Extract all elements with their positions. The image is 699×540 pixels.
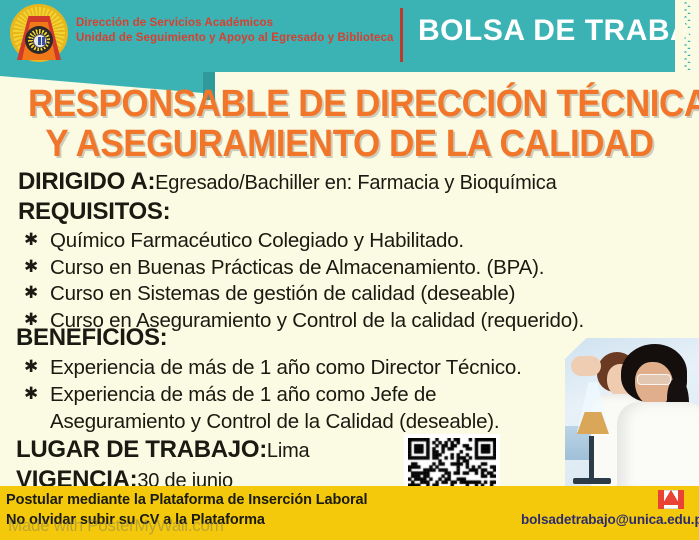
list-item-label: Químico Farmacéutico Colegiado y Habilit…	[50, 229, 464, 252]
department-line-2: Unidad de Seguimiento y Apoyo al Egresad…	[76, 31, 396, 46]
beneficios-label: BENEFICIOS:	[16, 324, 167, 351]
photo-stand	[589, 436, 594, 480]
zigzag-edge-decoration	[675, 0, 699, 72]
list-item-continuation: Aseguramiento y Control de la Calidad (d…	[50, 408, 642, 435]
asterisk-bullet-icon: ✱	[24, 254, 38, 281]
gmail-icon	[658, 490, 684, 509]
requisitos-heading: REQUISITOS:	[18, 198, 170, 226]
department-line-1: Dirección de Servicios Académicos	[76, 16, 396, 31]
photo-hand	[571, 356, 601, 376]
asterisk-bullet-icon: ✱	[24, 380, 38, 407]
dirigido-value: Egresado/Bachiller en: Farmacia y Bioquí…	[155, 172, 556, 194]
list-item: ✱Experiencia de más de 1 año como Direct…	[22, 354, 642, 381]
logo-core	[33, 34, 47, 48]
poster-header: Dirección de Servicios Académicos Unidad…	[0, 0, 699, 72]
photo-person-front	[621, 344, 699, 486]
lugar-row: LUGAR DE TRABAJO:Lima	[16, 436, 309, 464]
list-item-label: Experiencia de más de 1 año como Directo…	[50, 356, 522, 379]
header-divider	[400, 8, 403, 62]
asterisk-bullet-icon: ✱	[24, 280, 38, 307]
banner-title: BOLSA DE TRABAJO	[418, 14, 699, 48]
photo-flask-icon	[577, 374, 611, 436]
list-item-label: Curso en Sistemas de gestión de calidad …	[50, 282, 515, 305]
job-title-line-1: RESPONSABLE DE DIRECCIÓN TÉCNICA	[28, 84, 671, 124]
asterisk-bullet-icon: ✱	[24, 353, 38, 380]
job-title: RESPONSABLE DE DIRECCIÓN TÉCNICA Y ASEGU…	[28, 84, 671, 164]
watermark: Made with PosterMyWall.com	[8, 516, 223, 536]
beneficios-heading: BENEFICIOS:	[16, 324, 167, 352]
department-text: Dirección de Servicios Académicos Unidad…	[76, 16, 396, 46]
list-item-label: Experiencia de más de 1 año como Jefe de	[50, 383, 436, 406]
university-seal-logo	[8, 4, 70, 66]
requisitos-list: ✱Químico Farmacéutico Colegiado y Habili…	[22, 228, 682, 334]
beneficios-list: ✱Experiencia de más de 1 año como Direct…	[22, 354, 642, 435]
lugar-label: LUGAR DE TRABAJO:	[16, 436, 267, 463]
list-item: ✱Curso en Sistemas de gestión de calidad…	[22, 281, 682, 308]
lugar-value: Lima	[267, 440, 310, 462]
list-item: ✱Experiencia de más de 1 año como Jefe d…	[22, 381, 642, 435]
photo-stand-base	[573, 478, 611, 484]
photo-lab-coat	[617, 402, 699, 486]
list-item: ✱Químico Farmacéutico Colegiado y Habili…	[22, 228, 682, 255]
photo-safety-glasses-icon	[637, 374, 671, 385]
dirigido-row: DIRIGIDO A:Egresado/Bachiller en: Farmac…	[18, 168, 557, 196]
contact-email[interactable]: bolsadetrabajo@unica.edu.pe	[521, 512, 699, 527]
list-item: ✱Curso en Buenas Prácticas de Almacenami…	[22, 255, 682, 282]
requisitos-label: REQUISITOS:	[18, 198, 170, 225]
dirigido-label: DIRIGIDO A:	[18, 168, 155, 195]
gmail-v-shape	[662, 490, 680, 505]
list-item-label: Curso en Buenas Prácticas de Almacenamie…	[50, 256, 544, 279]
laboratory-photo	[565, 338, 699, 486]
job-posting-poster: Dirección de Servicios Académicos Unidad…	[0, 0, 699, 540]
asterisk-bullet-icon: ✱	[24, 227, 38, 254]
job-title-line-2: Y ASEGURAMIENTO DE LA CALIDAD	[28, 124, 671, 164]
instruction-line-1: Postular mediante la Plataforma de Inser…	[6, 492, 367, 508]
